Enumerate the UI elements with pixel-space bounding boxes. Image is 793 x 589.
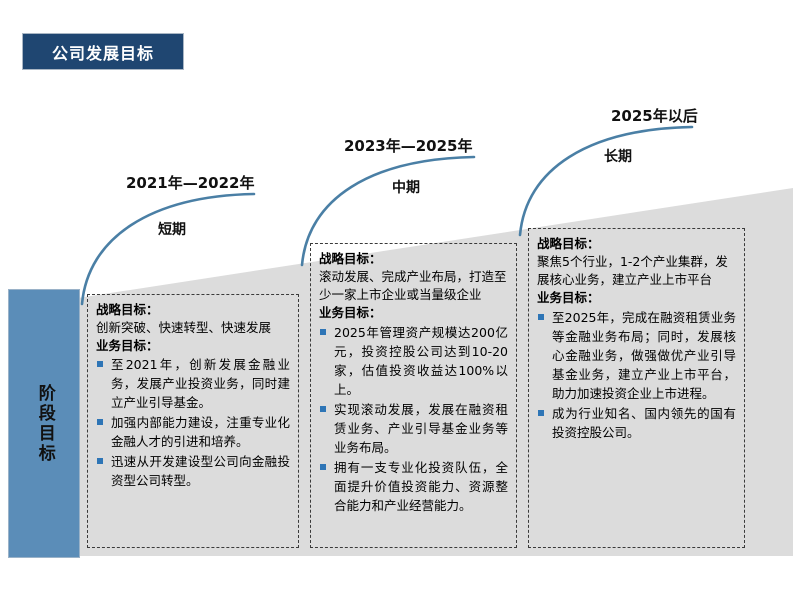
stage-3-year: 2025年以后 [611,105,698,126]
stage-1-year: 2021年—2022年 [126,172,255,193]
list-item-text: 至2025年，完成在融资租赁业务等金融业务布局；同时，发展核心金融业务，做强做优… [552,310,736,401]
stage-2-strategy-text: 滚动发展、完成产业布局，打造至少一家上市企业或当量级企业 [319,268,508,304]
square-bullet-icon [97,419,103,425]
stage-2-business-heading: 业务目标： [319,304,508,322]
stage-2-bullet-list: 2025年管理资产规模达200亿元，投资控股公司达到10-20家，估值投资收益达… [319,323,508,515]
list-item: 拥有一支专业化投资队伍，全面提升价值投资能力、资源整合能力和产业经营能力。 [319,458,508,515]
stage-3-strategy-heading: 战略目标： [537,235,736,253]
list-item-text: 迅速从开发建设型公司向金融投资型公司转型。 [111,454,290,488]
page-title: 公司发展目标 [52,40,154,64]
square-bullet-icon [97,458,103,464]
slide-title-box: 公司发展目标 [22,33,184,70]
stage-goal-label: 阶段目标 [34,384,54,464]
stage-3-business-heading: 业务目标： [537,289,736,307]
stage-1-bullet-list: 至2021年，创新发展金融业务，发展产业投资业务，同时建立产业引导基金。 加强内… [96,355,290,490]
stage-1-term: 短期 [158,219,186,239]
stage-3-goal-box: 战略目标： 聚焦5个行业，1-2个产业集群，发展核心业务，建立产业上市平台 业务… [528,228,745,548]
stage-2-strategy-heading: 战略目标： [319,250,508,268]
stage-2-goal-box: 战略目标： 滚动发展、完成产业布局，打造至少一家上市企业或当量级企业 业务目标：… [310,243,517,548]
list-item-text: 拥有一支专业化投资队伍，全面提升价值投资能力、资源整合能力和产业经营能力。 [334,460,508,513]
list-item: 成为行业知名、国内领先的国有投资控股公司。 [537,404,736,442]
stage-1-goal-box: 战略目标： 创新突破、快速转型、快速发展 业务目标： 至2021年，创新发展金融… [87,294,299,548]
list-item: 迅速从开发建设型公司向金融投资型公司转型。 [96,452,290,490]
stage-1-strategy-text: 创新突破、快速转型、快速发展 [96,319,290,337]
square-bullet-icon [97,361,103,367]
list-item-text: 实现滚动发展，发展在融资租赁业务、产业引导基金业务等业务布局。 [334,402,508,455]
list-item: 2025年管理资产规模达200亿元，投资控股公司达到10-20家，估值投资收益达… [319,323,508,399]
stage-2-term: 中期 [392,177,420,197]
stage-3-strategy-text: 聚焦5个行业，1-2个产业集群，发展核心业务，建立产业上市平台 [537,253,736,289]
list-item: 至2025年，完成在融资租赁业务等金融业务布局；同时，发展核心金融业务，做强做优… [537,308,736,403]
stage-2-year: 2023年—2025年 [344,135,473,156]
list-item-text: 2025年管理资产规模达200亿元，投资控股公司达到10-20家，估值投资收益达… [334,325,508,397]
stage-arc-1-icon [78,186,258,306]
list-item: 加强内部能力建设，注重专业化金融人才的引进和培养。 [96,413,290,451]
square-bullet-icon [320,329,326,335]
stage-3-term: 长期 [604,146,632,166]
list-item: 实现滚动发展，发展在融资租赁业务、产业引导基金业务等业务布局。 [319,400,508,457]
square-bullet-icon [320,406,326,412]
stage-1-business-heading: 业务目标： [96,337,290,355]
square-bullet-icon [538,314,544,320]
square-bullet-icon [320,464,326,470]
list-item-text: 加强内部能力建设，注重专业化金融人才的引进和培养。 [111,415,290,449]
list-item: 至2021年，创新发展金融业务，发展产业投资业务，同时建立产业引导基金。 [96,355,290,412]
list-item-text: 至2021年，创新发展金融业务，发展产业投资业务，同时建立产业引导基金。 [111,357,290,410]
stage-arc-3-icon [516,119,696,237]
stage-3-bullet-list: 至2025年，完成在融资租赁业务等金融业务布局；同时，发展核心金融业务，做强做优… [537,308,736,442]
stage-1-strategy-heading: 战略目标： [96,301,290,319]
stage-goal-bar: 阶段目标 [8,289,80,558]
square-bullet-icon [538,410,544,416]
list-item-text: 成为行业知名、国内领先的国有投资控股公司。 [552,406,736,440]
